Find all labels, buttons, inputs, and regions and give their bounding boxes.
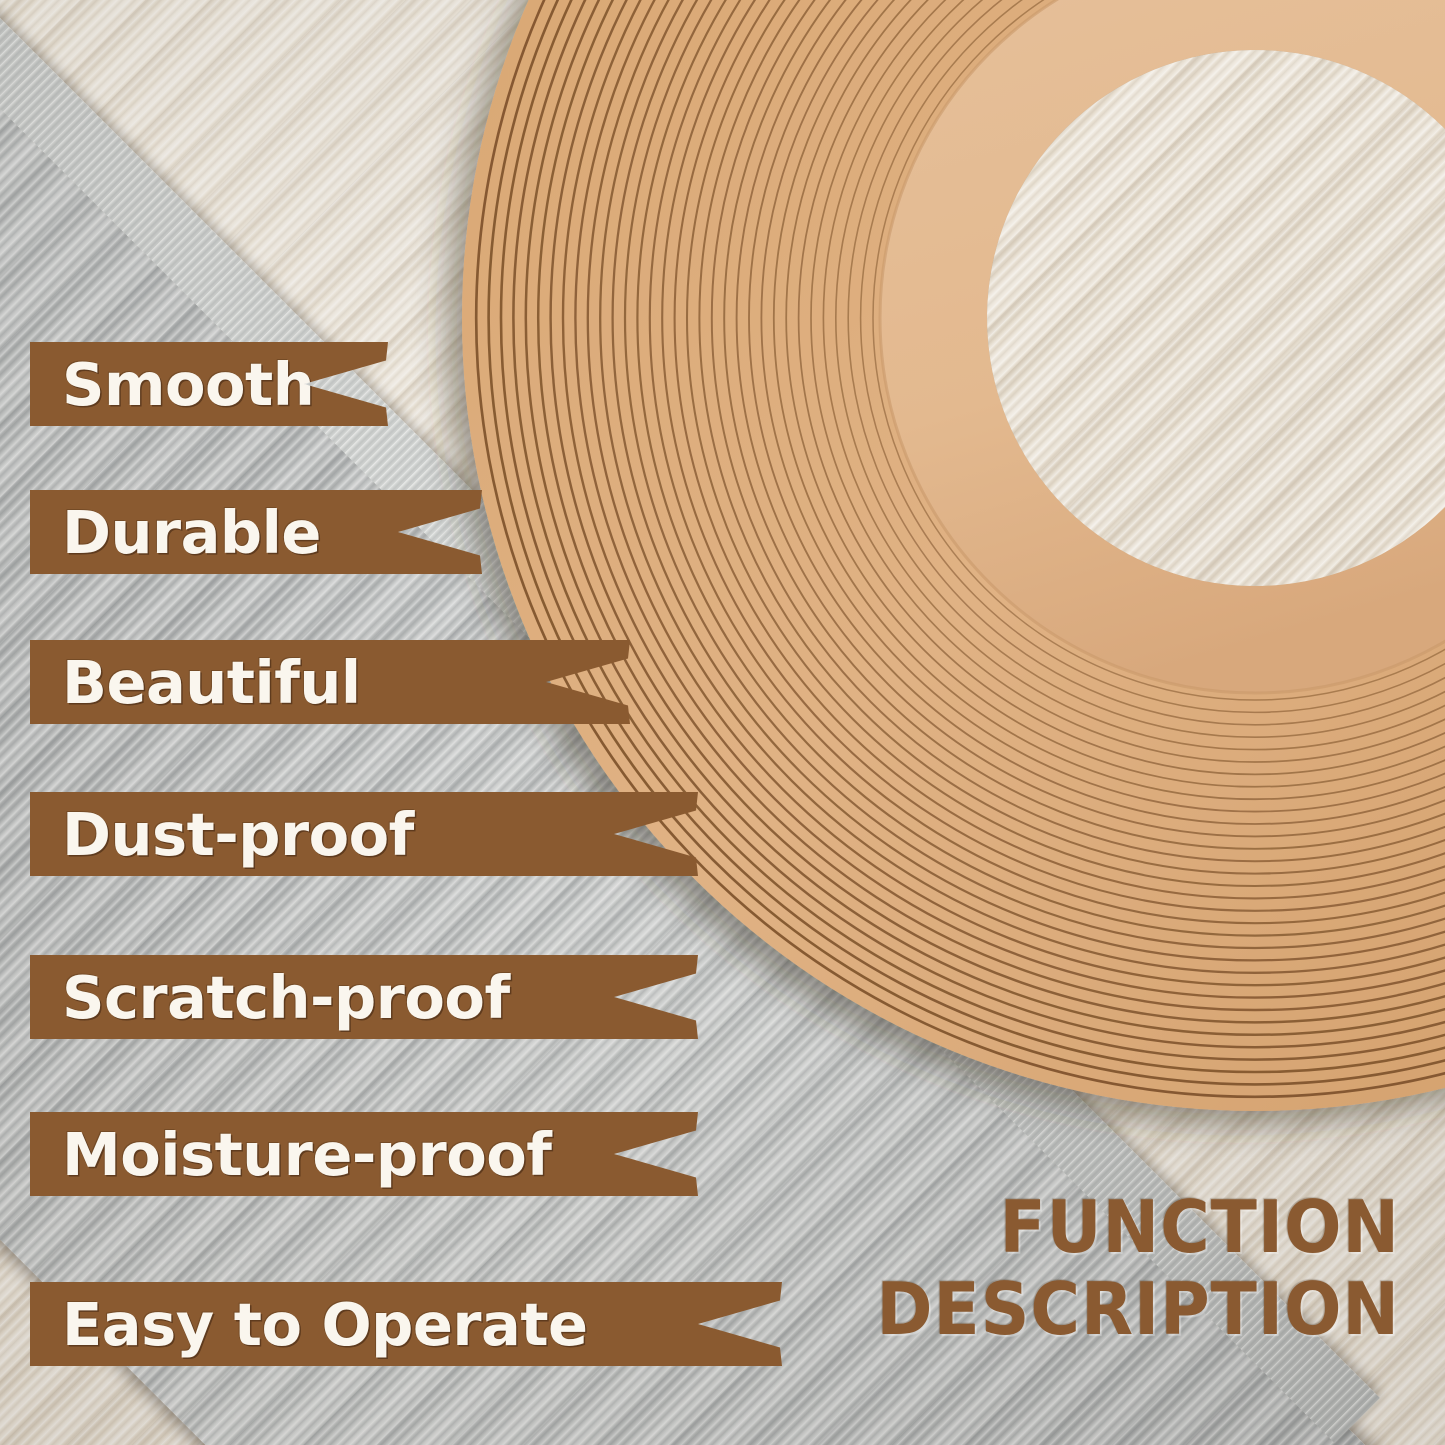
product-marketing-image: SmoothDurableBeautifulDust-proofScratch-… — [0, 0, 1445, 1445]
feature-banner-beautiful: Beautiful — [30, 640, 630, 724]
feature-banner-label: Beautiful — [30, 653, 361, 712]
feature-banner-dust-proof: Dust-proof — [30, 792, 698, 876]
feature-banner-label: Moisture-proof — [30, 1125, 551, 1184]
feature-banner-label: Dust-proof — [30, 805, 414, 864]
function-description-heading: FUNCTION DESCRIPTION — [843, 1186, 1400, 1350]
feature-banner-scratch-proof: Scratch-proof — [30, 955, 698, 1039]
heading-line-2: DESCRIPTION — [876, 1268, 1400, 1350]
heading-line-1: FUNCTION — [876, 1186, 1400, 1268]
feature-banner-label: Smooth — [30, 355, 314, 414]
feature-banner-label: Scratch-proof — [30, 968, 510, 1027]
feature-banner-label: Easy to Operate — [30, 1295, 588, 1354]
coil-center-hole — [987, 50, 1445, 586]
feature-banner-easy-to-operate: Easy to Operate — [30, 1282, 782, 1366]
feature-banner-label: Durable — [30, 503, 321, 562]
feature-banner-moisture-proof: Moisture-proof — [30, 1112, 698, 1196]
